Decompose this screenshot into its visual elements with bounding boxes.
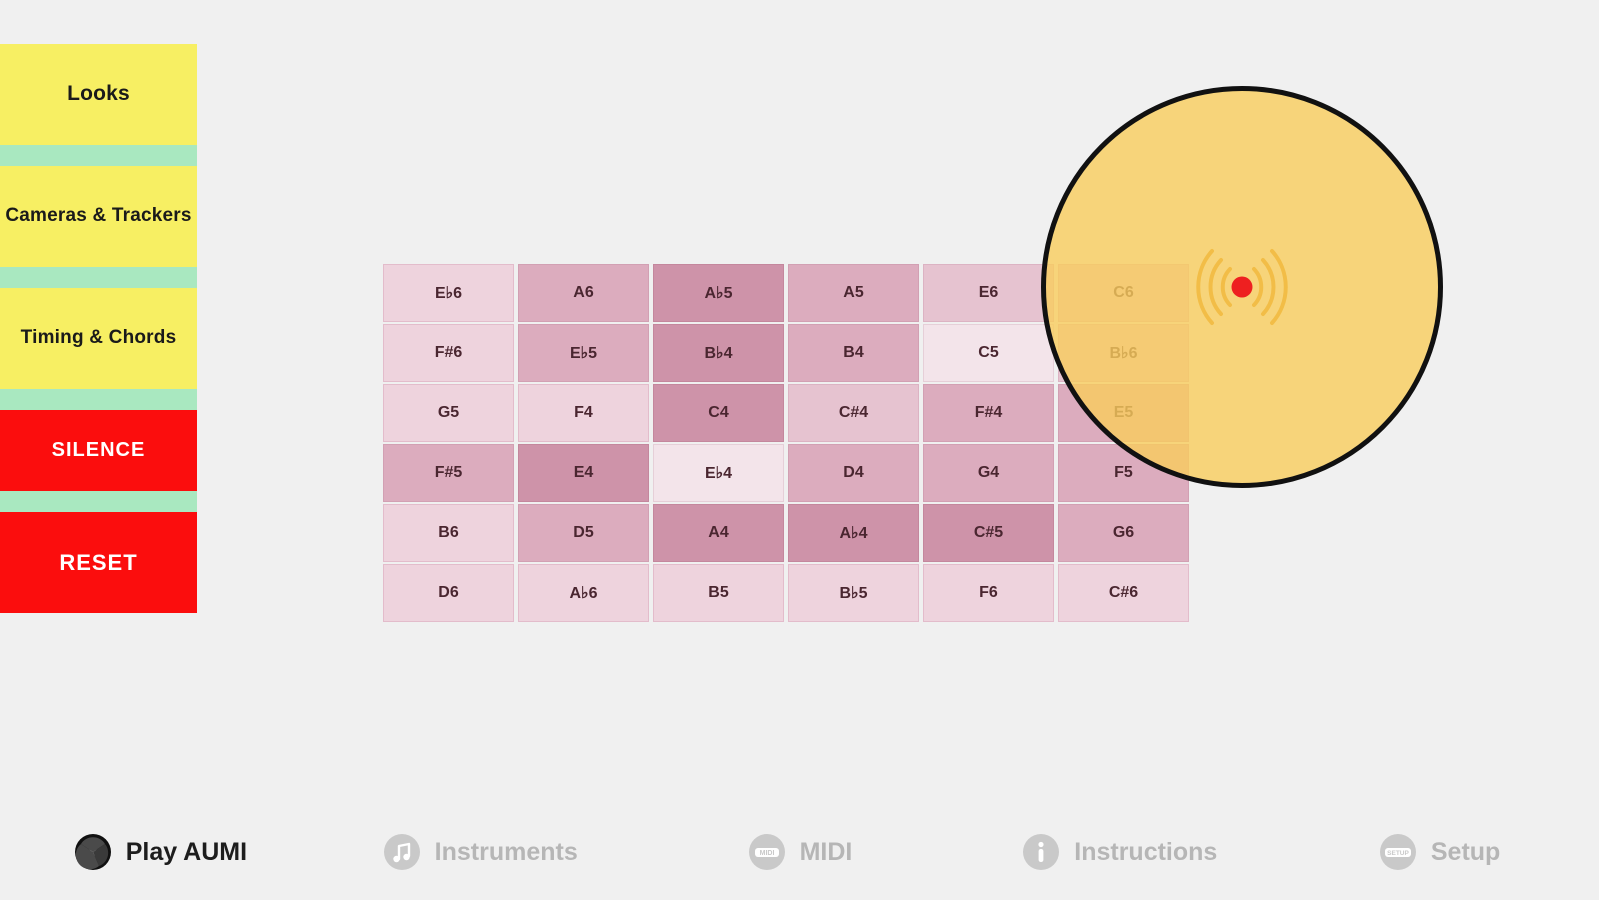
svg-text:SETUP: SETUP: [1387, 850, 1409, 857]
note-label: A♭4: [840, 523, 868, 543]
note-cell[interactable]: D4: [788, 444, 919, 502]
note-cell[interactable]: A5: [788, 264, 919, 322]
note-cell[interactable]: A4: [653, 504, 784, 562]
note-cell[interactable]: E♭6: [383, 264, 514, 322]
tab-instruments[interactable]: Instruments: [320, 830, 640, 874]
sidebar-item-label: Looks: [67, 82, 130, 107]
note-label: C5: [978, 344, 998, 362]
note-cell[interactable]: A6: [518, 264, 649, 322]
note-cell[interactable]: G5: [383, 384, 514, 442]
tab-label: Instructions: [1074, 838, 1217, 867]
note-label: A♭6: [570, 583, 598, 603]
note-cell[interactable]: B♭4: [653, 324, 784, 382]
note-label: G4: [978, 464, 999, 482]
note-cell[interactable]: E4: [518, 444, 649, 502]
note-label: B5: [708, 584, 728, 602]
reset-button-label: RESET: [59, 550, 137, 576]
note-label: B♭5: [840, 583, 868, 603]
note-cell[interactable]: C#6: [1058, 564, 1189, 622]
note-cell[interactable]: F4: [518, 384, 649, 442]
note-label: C#4: [839, 404, 868, 422]
note-label: E♭5: [570, 343, 597, 363]
tab-setup[interactable]: SETUP Setup: [1279, 830, 1599, 874]
sidebar-separator: [0, 389, 197, 410]
note-grid: E♭6A6A♭5A5E6C6F#6E♭5B♭4B4C5B♭6G5F4C4C#4F…: [381, 263, 1191, 623]
silence-button[interactable]: SILENCE: [0, 410, 197, 491]
note-cell[interactable]: E6: [923, 264, 1054, 322]
tab-midi[interactable]: MIDI MIDI: [640, 830, 960, 874]
tab-label: Setup: [1431, 838, 1500, 867]
tab-label: MIDI: [800, 838, 853, 867]
note-label: C#5: [974, 524, 1003, 542]
sidebar-item-cameras-trackers[interactable]: Cameras & Trackers: [0, 166, 197, 267]
note-cell[interactable]: A♭6: [518, 564, 649, 622]
note-cell[interactable]: B♭6: [1058, 324, 1189, 382]
note-label: E♭4: [705, 463, 732, 483]
note-cell[interactable]: F#6: [383, 324, 514, 382]
note-label: F5: [1114, 464, 1133, 482]
note-label: F#4: [975, 404, 1003, 422]
sidebar-separator: [0, 267, 197, 288]
note-label: A5: [843, 284, 863, 302]
note-cell[interactable]: F5: [1058, 444, 1189, 502]
sidebar-separator: [0, 491, 197, 512]
info-icon: [1021, 830, 1061, 874]
play-aumi-icon: [73, 830, 113, 874]
aumi-app-window: Looks Cameras & Trackers Timing & Chords…: [0, 0, 1599, 900]
note-label: B6: [438, 524, 458, 542]
note-cell[interactable]: C#5: [923, 504, 1054, 562]
note-cell[interactable]: F#5: [383, 444, 514, 502]
sidebar-item-label: Timing & Chords: [21, 327, 177, 349]
note-cell[interactable]: E♭4: [653, 444, 784, 502]
note-cell[interactable]: A♭4: [788, 504, 919, 562]
note-cell[interactable]: E5: [1058, 384, 1189, 442]
note-label: E♭6: [435, 283, 462, 303]
svg-text:MIDI: MIDI: [759, 850, 774, 857]
note-label: A4: [708, 524, 728, 542]
note-label: C4: [708, 404, 728, 422]
note-cell[interactable]: D6: [383, 564, 514, 622]
sidebar: Looks Cameras & Trackers Timing & Chords…: [0, 44, 197, 613]
note-label: B♭4: [705, 343, 733, 363]
reset-button[interactable]: RESET: [0, 512, 197, 613]
midi-icon: MIDI: [747, 830, 787, 874]
note-cell[interactable]: E♭5: [518, 324, 649, 382]
note-cell[interactable]: F6: [923, 564, 1054, 622]
note-cell[interactable]: D5: [518, 504, 649, 562]
tab-label: Instruments: [435, 838, 578, 867]
note-label: A6: [573, 284, 593, 302]
note-label: F#5: [435, 464, 463, 482]
note-cell[interactable]: B♭5: [788, 564, 919, 622]
note-cell[interactable]: G6: [1058, 504, 1189, 562]
note-cell[interactable]: C5: [923, 324, 1054, 382]
note-label: A♭5: [705, 283, 733, 303]
note-cell[interactable]: C4: [653, 384, 784, 442]
tab-instructions[interactable]: Instructions: [959, 830, 1279, 874]
note-label: F#6: [435, 344, 463, 362]
note-cell[interactable]: G4: [923, 444, 1054, 502]
note-label: E5: [1114, 404, 1134, 422]
note-label: D5: [573, 524, 593, 542]
note-label: B♭6: [1110, 343, 1138, 363]
instruments-icon: [382, 830, 422, 874]
note-cell[interactable]: C6: [1058, 264, 1189, 322]
signal-waves-icon: [1172, 217, 1312, 357]
sidebar-item-timing-chords[interactable]: Timing & Chords: [0, 288, 197, 389]
setup-icon: SETUP: [1378, 830, 1418, 874]
note-cell[interactable]: B4: [788, 324, 919, 382]
silence-button-label: SILENCE: [52, 439, 146, 463]
sidebar-separator: [0, 145, 197, 166]
note-label: G5: [438, 404, 459, 422]
note-label: F4: [574, 404, 593, 422]
note-label: B4: [843, 344, 863, 362]
note-cell[interactable]: A♭5: [653, 264, 784, 322]
note-cell[interactable]: C#4: [788, 384, 919, 442]
sidebar-item-label: Cameras & Trackers: [5, 205, 191, 227]
note-label: D6: [438, 584, 458, 602]
note-cell[interactable]: F#4: [923, 384, 1054, 442]
note-cell[interactable]: B6: [383, 504, 514, 562]
bottom-tab-bar: Play AUMI Instruments MIDI MIDI: [0, 804, 1599, 900]
tab-play-aumi[interactable]: Play AUMI: [0, 830, 320, 874]
note-label: C6: [1113, 284, 1133, 302]
sidebar-item-looks[interactable]: Looks: [0, 44, 197, 145]
note-label: C#6: [1109, 584, 1138, 602]
note-label: F6: [979, 584, 998, 602]
note-label: G6: [1113, 524, 1134, 542]
note-label: D4: [843, 464, 863, 482]
tracker-pointer-dot: [1232, 277, 1253, 298]
note-label: E6: [979, 284, 999, 302]
note-label: E4: [574, 464, 594, 482]
tab-label: Play AUMI: [126, 838, 247, 867]
note-cell[interactable]: B5: [653, 564, 784, 622]
